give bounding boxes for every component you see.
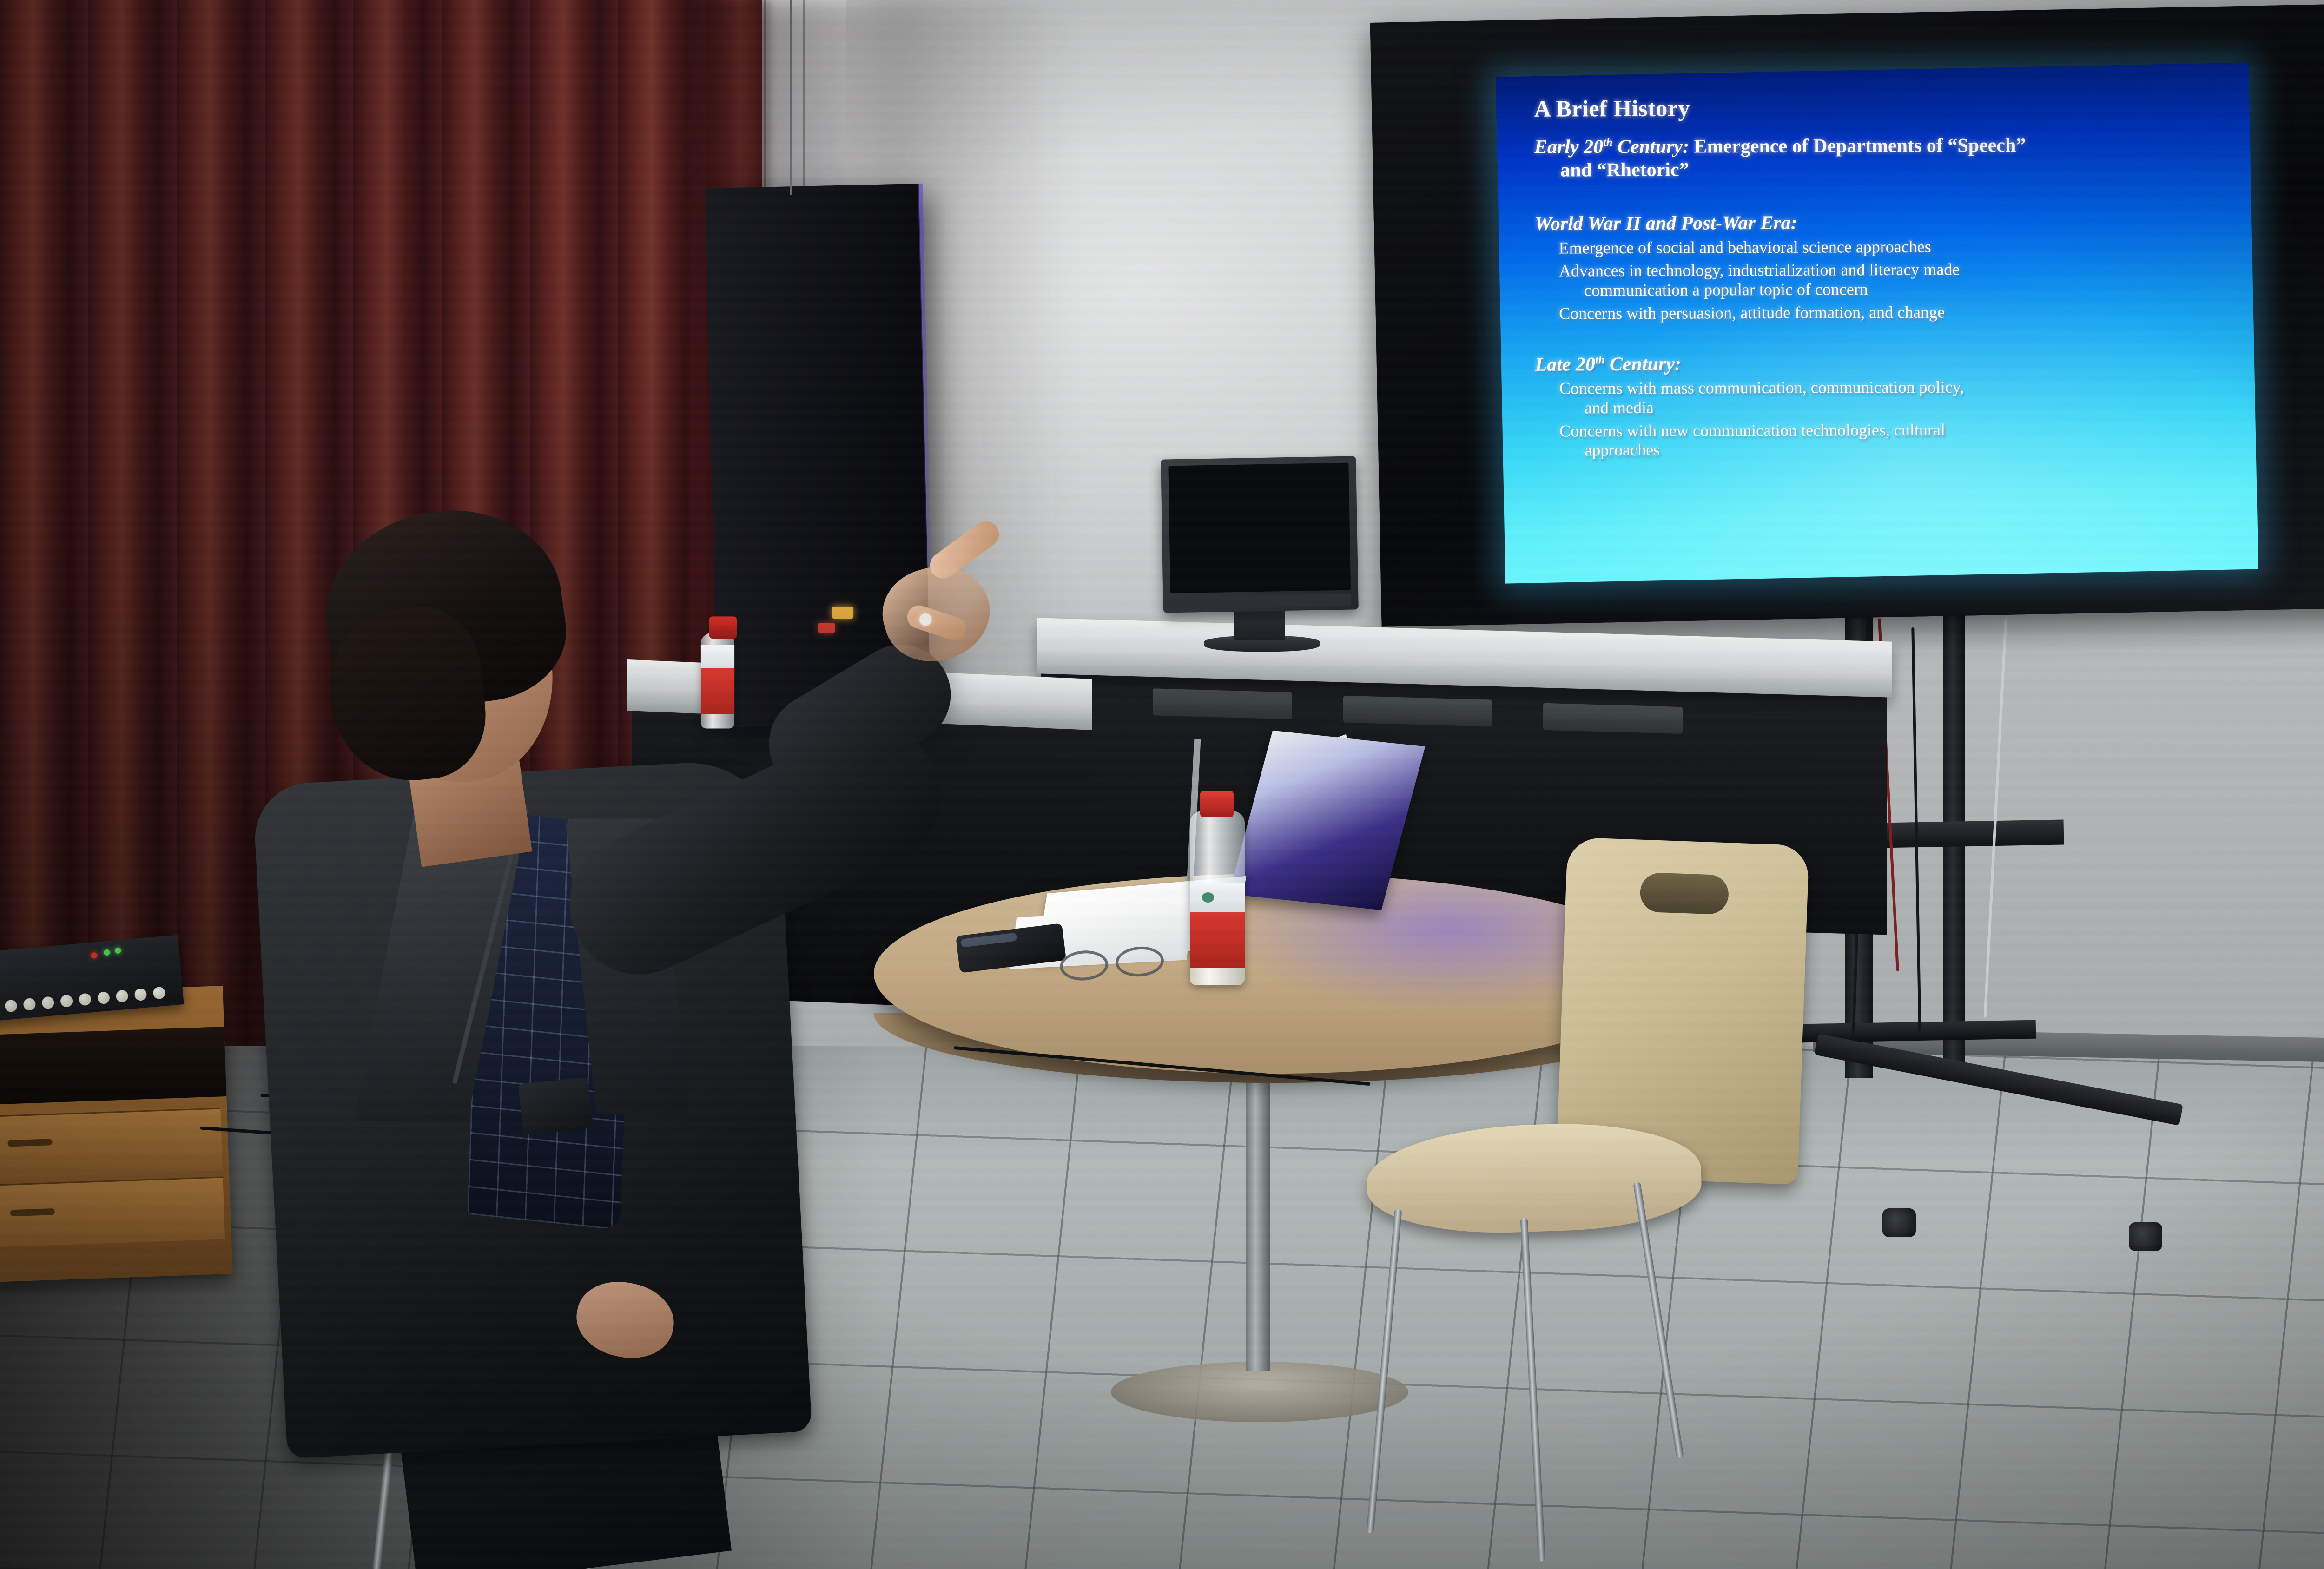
bullet-3-1-line1: Concerns with mass communication, commun… (1559, 378, 1964, 398)
section1-lead: Early 20 (1534, 136, 1603, 158)
mixer-knob[interactable] (5, 999, 18, 1012)
mixer-knob[interactable] (152, 986, 165, 999)
monitor-panel (1168, 463, 1351, 593)
chair-handle-slot (1639, 872, 1729, 915)
wood-cabinet[interactable] (0, 986, 233, 1282)
bullet-2-1: Emergence of social and behavioral scien… (1559, 236, 2226, 258)
slide-section-heading-2: World War II and Post-War Era: (1534, 211, 2226, 236)
bullet-2-2: Advances in technology, industrializatio… (1559, 259, 2226, 301)
tv-screen[interactable]: A Brief History Early 20th Century: Emer… (1496, 63, 2258, 584)
section3-rest: Century: (1604, 353, 1681, 375)
section1-rest: Century: (1612, 136, 1689, 158)
bottle-label-red (1190, 912, 1245, 968)
mixer-knob[interactable] (134, 988, 147, 1001)
bottle-cap (1200, 791, 1234, 817)
mixer-knob[interactable] (97, 991, 110, 1004)
cabinet-open-shelf (0, 1027, 226, 1105)
bullet-2-3: Concerns with persuasion, attitude forma… (1559, 302, 2226, 323)
mixer-knob[interactable] (116, 989, 129, 1002)
section1-plain: Emergence of Departments of “Speech” (1689, 135, 2026, 158)
section1-sup: th (1603, 136, 1612, 149)
mixer-led-green (115, 947, 121, 954)
slide-section-heading-1: Early 20th Century: Emergence of Departm… (1534, 134, 2226, 182)
mixer-knob[interactable] (41, 996, 54, 1009)
mixer-knob[interactable] (60, 995, 73, 1008)
slide-content: A Brief History Early 20th Century: Emer… (1499, 68, 2254, 578)
classroom-presentation-photo: A Brief History Early 20th Century: Emer… (0, 0, 2324, 1569)
slide-bullets-2: Emergence of social and behavioral scien… (1559, 236, 2227, 323)
monitor-chin (1170, 594, 1351, 609)
section2-lead: World War II and Post-War Era: (1534, 212, 1797, 235)
bottle-label-white (1190, 883, 1245, 912)
bullet-2-3-line1: Concerns with persuasion, attitude forma… (1559, 303, 1945, 323)
bottle-label-mark (1202, 892, 1214, 903)
presentation-tv[interactable]: A Brief History Early 20th Century: Emer… (1370, 3, 2324, 626)
speaker-hanging-wire (790, 0, 792, 195)
slide-bullets-3: Concerns with mass communication, commun… (1559, 377, 2227, 461)
caster-right (2129, 1222, 2162, 1251)
bullet-3-2: Concerns with new communication technolo… (1559, 419, 2227, 461)
slide-title: A Brief History (1534, 93, 2226, 122)
section3-sup: th (1595, 354, 1604, 366)
water-bottle[interactable] (1190, 811, 1245, 985)
bullet-3-2-line1: Concerns with new communication technolo… (1559, 420, 1945, 440)
bullet-3-1-line2: and media (1585, 396, 2227, 418)
bullet-2-2-line2: communication a popular topic of concern (1584, 279, 2226, 301)
bullet-3-2-line2: approaches (1585, 439, 2227, 461)
bullet-2-2-line1: Advances in technology, industrializatio… (1559, 260, 1960, 280)
presenter-badge (518, 1077, 593, 1135)
table-pedestal (1246, 1064, 1270, 1371)
mixer-knob[interactable] (79, 993, 92, 1006)
desktop-monitor[interactable] (1161, 456, 1359, 613)
slide-section-heading-3: Late 20th Century: (1535, 351, 2227, 376)
mixer-led-red (91, 952, 97, 959)
presenter (260, 493, 1023, 1569)
section3-lead: Late 20 (1535, 354, 1596, 375)
section1-cont: and “Rhetoric” (1560, 157, 2226, 182)
presenter-ring (919, 613, 931, 626)
mixer-knob[interactable] (23, 998, 36, 1011)
bullet-3-1: Concerns with mass communication, commun… (1559, 377, 2227, 418)
mixer-led-green (104, 949, 110, 956)
caster-left (1882, 1208, 1916, 1237)
bullet-2-1-line1: Emergence of social and behavioral scien… (1559, 237, 1931, 257)
